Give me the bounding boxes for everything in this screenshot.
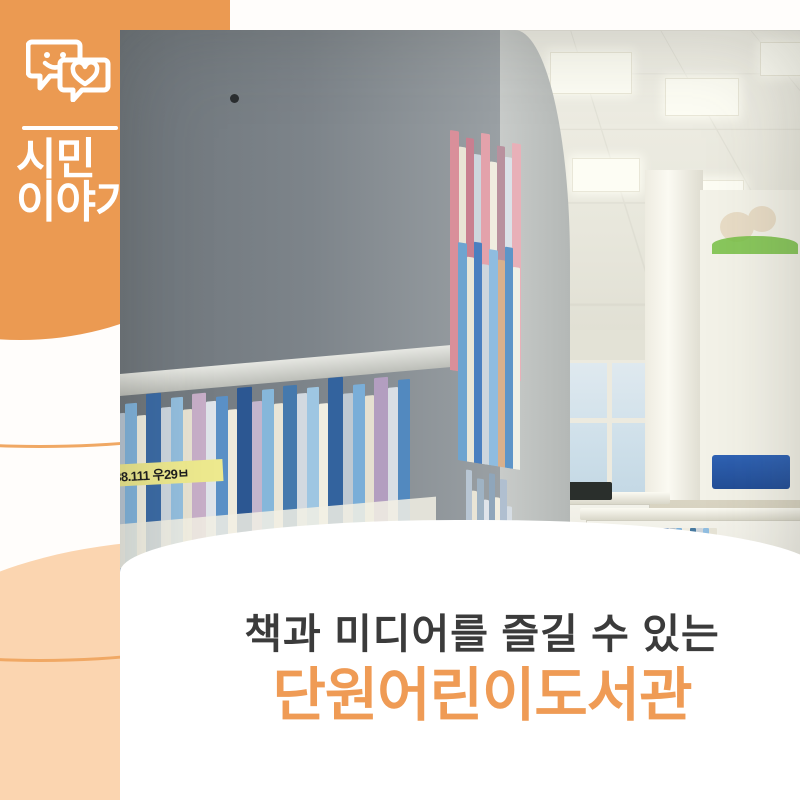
- island-shelf-top: [580, 508, 800, 520]
- promo-card: 시민 이야기: [0, 0, 800, 800]
- caption-panel: 책과 미디어를 즐길 수 있는 단원어린이도서관: [120, 520, 800, 800]
- blue-bin: [712, 455, 790, 489]
- caption-title: 단원어린이도서관: [162, 648, 800, 732]
- mural-grass: [712, 236, 798, 254]
- shelf-wall-dot: [230, 94, 239, 103]
- ceiling-light: [665, 78, 739, 116]
- chat-bubbles-smile-heart-icon: [26, 36, 112, 102]
- ceiling-light: [550, 52, 632, 94]
- badge-divider: [22, 126, 118, 130]
- ceiling-light: [572, 158, 640, 192]
- mural-tree: [748, 206, 776, 232]
- white-column: [645, 170, 703, 500]
- book-row-curved: [458, 230, 532, 472]
- ceiling-light: [760, 42, 800, 76]
